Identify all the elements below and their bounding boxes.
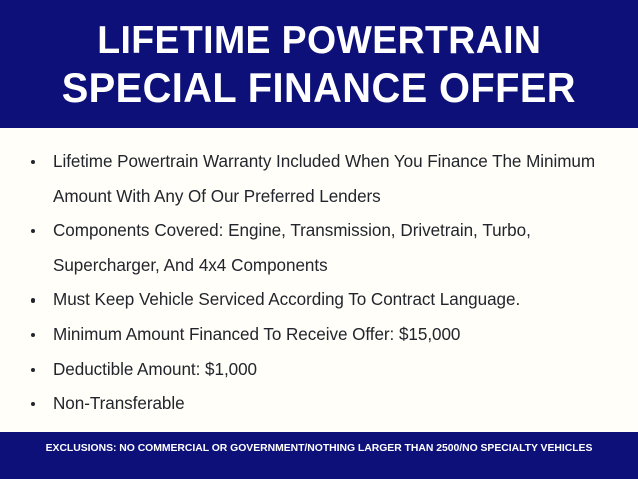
list-item: Non-Transferable bbox=[0, 387, 638, 422]
bullet-dot-icon bbox=[31, 402, 35, 406]
bullet-dot-icon bbox=[31, 160, 35, 164]
list-item: Minimum Amount Financed To Receive Offer… bbox=[0, 318, 638, 353]
page-title-line-1: LIFETIME POWERTRAIN bbox=[97, 17, 541, 64]
offer-slide: LIFETIME POWERTRAIN SPECIAL FINANCE OFFE… bbox=[0, 0, 638, 479]
offer-details-body: Lifetime Powertrain Warranty Included Wh… bbox=[0, 128, 638, 432]
page-title-line-2: SPECIAL FINANCE OFFER bbox=[62, 64, 576, 111]
list-item-label: Components Covered: Engine, Transmission… bbox=[53, 214, 620, 283]
bullet-dot-icon bbox=[31, 229, 35, 233]
footer-banner: EXCLUSIONS: NO COMMERCIAL OR GOVERNMENT/… bbox=[0, 432, 638, 479]
list-item: Deductible Amount: $1,000 bbox=[0, 353, 638, 388]
bullet-dot-icon bbox=[31, 368, 35, 372]
list-item-label: Non-Transferable bbox=[53, 387, 620, 422]
list-item-label: Minimum Amount Financed To Receive Offer… bbox=[53, 318, 620, 353]
exclusions-note: EXCLUSIONS: NO COMMERCIAL OR GOVERNMENT/… bbox=[0, 432, 638, 466]
list-item: Components Covered: Engine, Transmission… bbox=[0, 214, 638, 283]
list-item-label: Lifetime Powertrain Warranty Included Wh… bbox=[53, 145, 620, 214]
bullet-dot-icon bbox=[31, 298, 35, 302]
offer-bullet-list: Lifetime Powertrain Warranty Included Wh… bbox=[0, 145, 638, 422]
list-item: Lifetime Powertrain Warranty Included Wh… bbox=[0, 145, 638, 214]
header-banner: LIFETIME POWERTRAIN SPECIAL FINANCE OFFE… bbox=[0, 0, 638, 128]
list-item: Must Keep Vehicle Serviced According To … bbox=[0, 283, 638, 318]
bullet-dot-icon bbox=[31, 333, 35, 337]
list-item-label: Must Keep Vehicle Serviced According To … bbox=[53, 283, 620, 318]
list-item-label: Deductible Amount: $1,000 bbox=[53, 353, 620, 388]
